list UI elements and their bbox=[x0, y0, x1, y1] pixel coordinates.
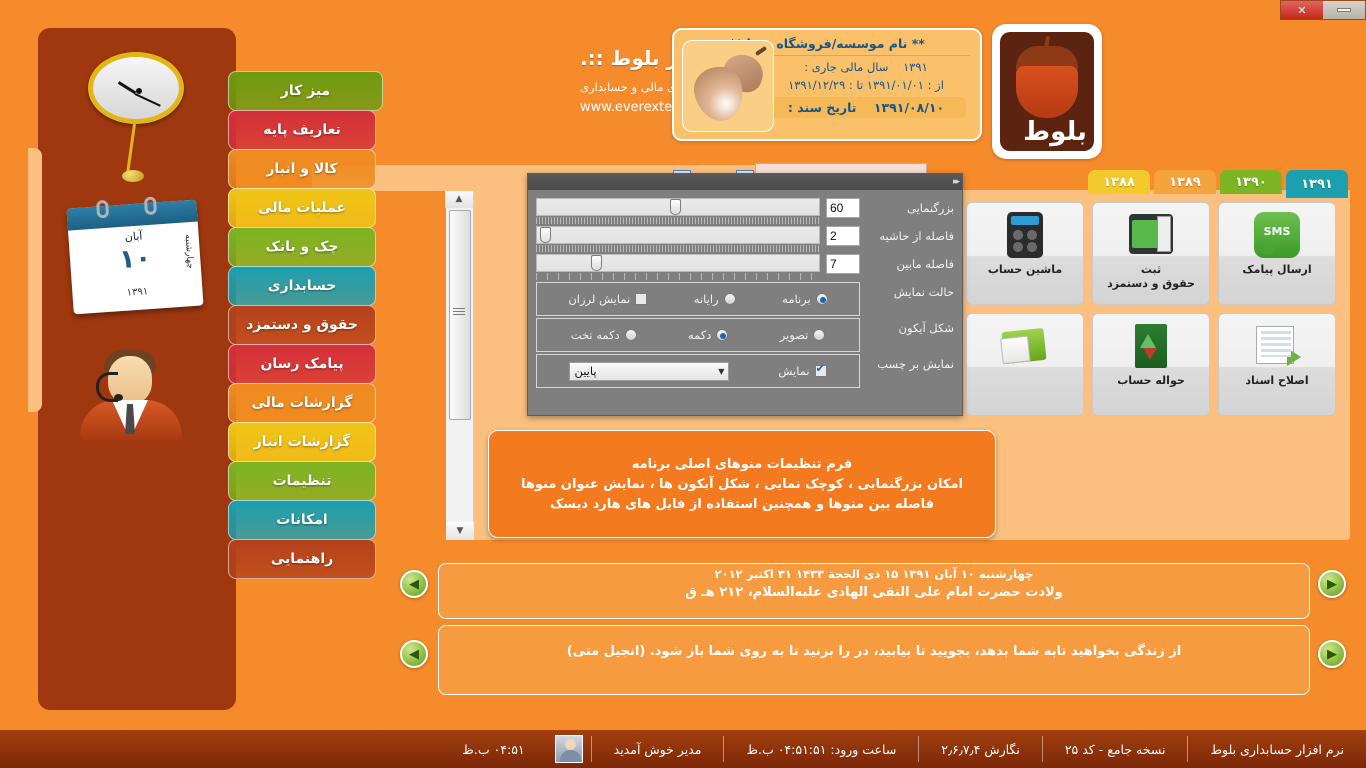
user-avatar-icon[interactable] bbox=[555, 735, 583, 763]
nav-item-3[interactable]: عملیات مالی bbox=[228, 188, 376, 228]
status-bar: نرم افزار حسابداری بلوط نسخه جامع - کد ۲… bbox=[0, 730, 1366, 768]
margin-slider[interactable] bbox=[536, 226, 820, 244]
icon-shape-label: شکل آیکون bbox=[866, 318, 954, 335]
document-date-row: ۱۳۹۱/۰۸/۱۰ تاریخ سند : bbox=[766, 97, 966, 118]
scroll-down-icon[interactable]: ▼ bbox=[446, 522, 474, 540]
radio-icon[interactable] bbox=[716, 329, 728, 341]
news-next-button-1[interactable]: ▶ bbox=[1318, 570, 1346, 598]
nav-item-label: میز کار bbox=[281, 83, 330, 99]
nav-item-label: چک و بانک bbox=[266, 239, 339, 255]
shortcut-tile-caption-main: ارسال پیامک bbox=[1242, 263, 1311, 276]
tooltip-line-1: فرم تنظیمات منوهای اصلی برنامه bbox=[503, 457, 981, 472]
label-display-group: نمایش ▼ پایین bbox=[536, 354, 860, 388]
margin-label: فاصله از حاشیه bbox=[866, 226, 954, 243]
news-prev-button-1[interactable]: ◀ bbox=[400, 570, 428, 598]
zoom-label: بزرگنمایی bbox=[866, 198, 954, 215]
shortcut-tile-caption: حواله حساب bbox=[1117, 374, 1185, 388]
nav-item-7[interactable]: پیامک رسان bbox=[228, 344, 376, 384]
minimize-button[interactable] bbox=[1323, 1, 1365, 19]
status-product: نرم افزار حسابداری بلوط bbox=[1187, 736, 1366, 762]
margin-slider-wrap bbox=[536, 226, 820, 252]
label-display-label: نمایش بر چسب bbox=[866, 354, 954, 371]
payroll-icon-art bbox=[1129, 214, 1173, 254]
nav-item-label: پیامک رسان bbox=[260, 356, 343, 372]
setting-row-margin: فاصله از حاشیه bbox=[536, 226, 954, 252]
icon-shape-group: تصویر دکمه دکمه تخت bbox=[536, 318, 860, 352]
payroll-icon bbox=[1127, 211, 1175, 259]
year-tab-۱۳۹۰[interactable]: ۱۳۹۰ bbox=[1220, 170, 1282, 194]
shortcut-tile-caption-main: حواله حساب bbox=[1117, 374, 1185, 387]
spacing-slider[interactable] bbox=[536, 254, 820, 272]
arrow-right-icon: ▶ bbox=[1327, 647, 1337, 662]
setting-row-spacing: فاصله مابین bbox=[536, 254, 954, 280]
close-button[interactable]: ✕ bbox=[1281, 1, 1323, 19]
display-mode-option-program-label: برنامه bbox=[782, 292, 811, 306]
arrow-left-icon: ◀ bbox=[409, 647, 419, 662]
calculator-icon bbox=[1001, 211, 1049, 259]
account-transfer-icon-art bbox=[1135, 324, 1167, 368]
calendar-ring-icon bbox=[144, 196, 157, 215]
radio-icon[interactable] bbox=[816, 293, 828, 305]
news-bar-occasion: چهارشنبه ۱۰ آبان ۱۳۹۱ ۱۵ ذی الحجة ۱۴۳۳ ۳… bbox=[438, 563, 1310, 619]
accounting-folder-icon bbox=[1001, 322, 1049, 370]
dialog-titlebar: ▸▸ bbox=[528, 174, 962, 190]
accounting-folder-icon-art bbox=[1001, 328, 1046, 364]
document-date-label: تاریخ سند : bbox=[788, 100, 857, 115]
calendar-widget: آبان چهارشنبه ۱۰ ۱۳۹۱ bbox=[66, 200, 203, 315]
logo-backdrop: بلوط bbox=[1000, 32, 1094, 151]
nav-item-label: عملیات مالی bbox=[258, 200, 346, 216]
acorn-body-icon bbox=[1016, 66, 1078, 118]
year-tab-۱۳۹۱[interactable]: ۱۳۹۱ bbox=[1286, 170, 1348, 198]
label-position-value: پایین bbox=[574, 364, 596, 378]
scroll-up-icon[interactable]: ▲ bbox=[445, 190, 473, 208]
minimize-icon bbox=[1337, 8, 1351, 12]
margin-slider-ticks bbox=[536, 245, 820, 252]
zoom-slider-wrap bbox=[536, 198, 820, 224]
support-operator-widget[interactable] bbox=[68, 348, 198, 440]
spacing-label: فاصله مابین bbox=[866, 254, 954, 271]
main-nav-menu: میز کارتعاریف پایهکالا و انبارعملیات مال… bbox=[228, 72, 376, 579]
fiscal-year-tabs: ۱۳۹۱۱۳۹۰۱۳۸۹۱۳۸۸ bbox=[1088, 170, 1348, 198]
calendar-year: ۱۳۹۱ bbox=[72, 282, 202, 302]
shortcut-tile[interactable]: ارسال پیامک bbox=[1218, 202, 1336, 305]
status-welcome: مدیر خوش آمدید bbox=[591, 736, 724, 762]
desktop-scrollbar[interactable]: ▲ ▼ bbox=[446, 190, 474, 540]
widget-panel-handle[interactable] bbox=[28, 148, 42, 412]
news-occasion-text: ولادت حضرت امام علی النقی الهادی علیه‌ال… bbox=[439, 581, 1309, 600]
year-tab-label: ۱۳۸۹ bbox=[1169, 175, 1201, 190]
clock-center-pin-icon bbox=[136, 88, 142, 94]
margin-value-input[interactable] bbox=[826, 226, 860, 246]
news-dateline: چهارشنبه ۱۰ آبان ۱۳۹۱ ۱۵ ذی الحجة ۱۴۳۳ ۳… bbox=[439, 564, 1309, 581]
calendar-ring-icon bbox=[96, 200, 109, 219]
edit-documents-icon-art bbox=[1256, 326, 1294, 364]
nav-item-11[interactable]: امکانات bbox=[228, 500, 376, 540]
account-transfer-icon bbox=[1127, 322, 1175, 370]
display-mode-label: حالت نمایش bbox=[866, 282, 954, 299]
arrow-left-icon: ◀ bbox=[409, 577, 419, 592]
acorn-illustration-stem-icon bbox=[755, 46, 767, 56]
nav-item-10[interactable]: تنظیمات bbox=[228, 461, 376, 501]
status-clock: ۰۴:۵۱ ب.ظ bbox=[440, 736, 546, 762]
spacing-value-input[interactable] bbox=[826, 254, 860, 274]
operator-microphone-icon bbox=[114, 394, 123, 401]
spacing-slider-wrap bbox=[536, 254, 820, 280]
nav-item-label: امکانات bbox=[276, 512, 327, 528]
menu-settings-dialog: ▸▸ بزرگنمایی فاصله از حاشیه bbox=[527, 173, 963, 416]
icon-shape-option-flat-button[interactable]: دکمه تخت bbox=[571, 328, 637, 342]
scrollbar-grip-icon bbox=[453, 308, 465, 317]
nav-item-1[interactable]: تعاریف پایه bbox=[228, 110, 376, 150]
display-mode-option-program[interactable]: برنامه bbox=[782, 292, 828, 306]
label-display-checkbox[interactable]: نمایش bbox=[778, 364, 826, 378]
shortcut-tile[interactable]: حواله حساب bbox=[1092, 313, 1210, 416]
display-mode-option-shaky-label: نمایش لرزان bbox=[568, 292, 630, 306]
nav-item-4[interactable]: چک و بانک bbox=[228, 227, 376, 267]
document-date-value: ۱۳۹۱/۰۸/۱۰ bbox=[874, 100, 944, 115]
nav-item-0[interactable]: میز کار bbox=[228, 71, 383, 111]
nav-item-9[interactable]: گزارشات انبار bbox=[228, 422, 376, 462]
shortcut-tile-caption: ماشین حساب bbox=[988, 263, 1062, 277]
shortcut-tile-caption: ارسال پیامک bbox=[1242, 263, 1311, 277]
zoom-slider-ticks bbox=[536, 217, 820, 224]
sms-icon bbox=[1253, 211, 1301, 259]
nav-item-label: تعاریف پایه bbox=[263, 122, 341, 138]
news-next-button-2[interactable]: ▶ bbox=[1318, 640, 1346, 668]
shortcut-tile[interactable] bbox=[966, 313, 1084, 416]
radio-icon[interactable] bbox=[724, 293, 736, 305]
shortcut-tile-caption: اصلاح اسناد bbox=[1245, 374, 1308, 388]
shortcut-tile-caption-main: ثبت bbox=[1141, 263, 1161, 276]
checkbox-icon[interactable] bbox=[815, 365, 827, 377]
calculator-icon-art bbox=[1007, 212, 1043, 258]
status-welcome-text: مدیر خوش آمدید bbox=[614, 742, 702, 757]
display-mode-option-computer[interactable]: رایانه bbox=[694, 292, 736, 306]
acorn-illustration bbox=[682, 40, 774, 132]
status-edition: نسخه جامع - کد ۲۵ bbox=[1042, 736, 1188, 762]
icon-shape-option-image-label: تصویر bbox=[780, 328, 809, 342]
nav-item-12[interactable]: راهنمایی bbox=[228, 539, 376, 579]
setting-row-icon-shape: شکل آیکون تصویر دکمه دکمه تخت bbox=[536, 318, 954, 352]
label-display-checkbox-label: نمایش bbox=[778, 364, 809, 378]
icon-shape-option-button[interactable]: دکمه bbox=[688, 328, 728, 342]
zoom-slider-knob[interactable] bbox=[670, 199, 681, 215]
year-tab-label: ۱۳۸۸ bbox=[1103, 175, 1135, 190]
nav-item-6[interactable]: حقوق و دستمزد bbox=[228, 305, 376, 345]
logo-wordmark: بلوط bbox=[1000, 117, 1102, 147]
close-icon: ✕ bbox=[1297, 4, 1306, 17]
analog-clock-widget bbox=[88, 52, 184, 124]
year-tab-۱۳۸۸[interactable]: ۱۳۸۸ bbox=[1088, 170, 1150, 194]
display-mode-option-shaky[interactable]: نمایش لرزان bbox=[568, 292, 647, 306]
shortcut-tile-caption: ثبتحقوق و دستمزد bbox=[1107, 263, 1195, 291]
nav-item-label: حقوق و دستمزد bbox=[246, 317, 358, 333]
icon-shape-option-button-label: دکمه bbox=[688, 328, 711, 342]
company-logo: بلوط bbox=[992, 24, 1102, 159]
year-tab-label: ۱۳۹۰ bbox=[1235, 175, 1267, 190]
shortcut-tile[interactable]: ثبتحقوق و دستمزد bbox=[1092, 202, 1210, 305]
edit-documents-icon bbox=[1253, 322, 1301, 370]
checkbox-icon[interactable] bbox=[635, 293, 647, 305]
chevron-down-icon[interactable]: ▼ bbox=[718, 367, 724, 376]
settings-help-tooltip: فرم تنظیمات منوهای اصلی برنامه امکان بزر… bbox=[488, 430, 996, 538]
year-tab-label: ۱۳۹۱ bbox=[1301, 177, 1333, 192]
sms-icon-art bbox=[1254, 212, 1300, 258]
window-controls: ✕ bbox=[1280, 0, 1366, 20]
status-login-time: ساعت ورود: ۰۴:۵۱:۵۱ ب.ظ bbox=[723, 736, 918, 762]
icon-shape-option-image[interactable]: تصویر bbox=[780, 328, 826, 342]
shortcut-tile-caption-main: ماشین حساب bbox=[988, 263, 1062, 276]
shortcut-tile[interactable]: اصلاح اسناد bbox=[1218, 313, 1336, 416]
expand-icon[interactable]: ▸▸ bbox=[953, 177, 958, 187]
clock-hour-hand-icon bbox=[118, 81, 137, 94]
fiscal-info-panel: ** نام موسسه/فروشگاه شما ** ۱۳۹۱ سال مال… bbox=[672, 28, 982, 141]
clock-pendulum-rod-icon bbox=[126, 124, 136, 176]
nav-item-label: گزارشات مالی bbox=[251, 395, 352, 411]
dialog-body: بزرگنمایی فاصله از حاشیه فاصله مابین bbox=[528, 190, 962, 388]
label-position-select[interactable]: ▼ پایین bbox=[569, 362, 729, 381]
window-titlebar: ✕ bbox=[0, 0, 1366, 20]
display-mode-option-computer-label: رایانه bbox=[694, 292, 719, 306]
status-version: نگارش ۲٫۶٫۷٫۴ bbox=[918, 736, 1042, 762]
clock-pendulum-bob-icon bbox=[122, 170, 144, 182]
spacing-slider-knob[interactable] bbox=[591, 255, 602, 271]
year-tab-۱۳۸۹[interactable]: ۱۳۸۹ bbox=[1154, 170, 1216, 194]
arrow-right-icon: ▶ bbox=[1327, 577, 1337, 592]
shortcut-tile-caption-sub: حقوق و دستمزد bbox=[1107, 277, 1195, 291]
setting-row-display-mode: حالت نمایش برنامه رایانه نمایش لرزان bbox=[536, 282, 954, 316]
setting-row-label-display: نمایش بر چسب نمایش ▼ پایین bbox=[536, 354, 954, 388]
news-quote-text: از زندگی بخواهید تابه شما بدهد، بجویید ت… bbox=[439, 626, 1309, 659]
nav-item-label: تنظیمات bbox=[272, 473, 331, 489]
zoom-slider[interactable] bbox=[536, 198, 820, 216]
nav-item-8[interactable]: گزارشات مالی bbox=[228, 383, 376, 423]
radio-icon[interactable] bbox=[625, 329, 637, 341]
setting-row-zoom: بزرگنمایی bbox=[536, 198, 954, 224]
icon-shape-option-flat-button-label: دکمه تخت bbox=[571, 328, 620, 342]
shortcut-tile-caption-main: اصلاح اسناد bbox=[1245, 374, 1308, 387]
tooltip-line-2: امکان بزرگنمایی ، کوچک نمایی ، شکل آیکون… bbox=[503, 477, 981, 492]
news-bar-quote: از زندگی بخواهید تابه شما بدهد، بجویید ت… bbox=[438, 625, 1310, 695]
tooltip-line-3: فاصله بین منوها و همچنین استفاده از فایل… bbox=[503, 497, 981, 512]
nav-item-label: کالا و انبار bbox=[266, 161, 337, 177]
zoom-value-input[interactable] bbox=[826, 198, 860, 218]
nav-item-label: حسابداری bbox=[268, 278, 337, 294]
display-mode-group: برنامه رایانه نمایش لرزان bbox=[536, 282, 860, 316]
fiscal-year-label: سال مالی جاری : bbox=[804, 60, 888, 74]
radio-icon[interactable] bbox=[813, 329, 825, 341]
spacing-slider-ticks bbox=[536, 273, 820, 280]
clock-minute-hand-icon bbox=[135, 93, 161, 107]
nav-item-2[interactable]: کالا و انبار bbox=[228, 149, 376, 189]
fiscal-year-value: ۱۳۹۱ bbox=[903, 60, 928, 74]
nav-item-label: گزارشات انبار bbox=[254, 434, 351, 450]
shortcut-tile[interactable]: ماشین حساب bbox=[966, 202, 1084, 305]
nav-item-5[interactable]: حسابداری bbox=[228, 266, 376, 306]
margin-slider-knob[interactable] bbox=[540, 227, 551, 243]
news-prev-button-2[interactable]: ◀ bbox=[400, 640, 428, 668]
nav-item-label: راهنمایی bbox=[271, 551, 333, 567]
widget-panel: آبان چهارشنبه ۱۰ ۱۳۹۱ bbox=[38, 28, 236, 710]
